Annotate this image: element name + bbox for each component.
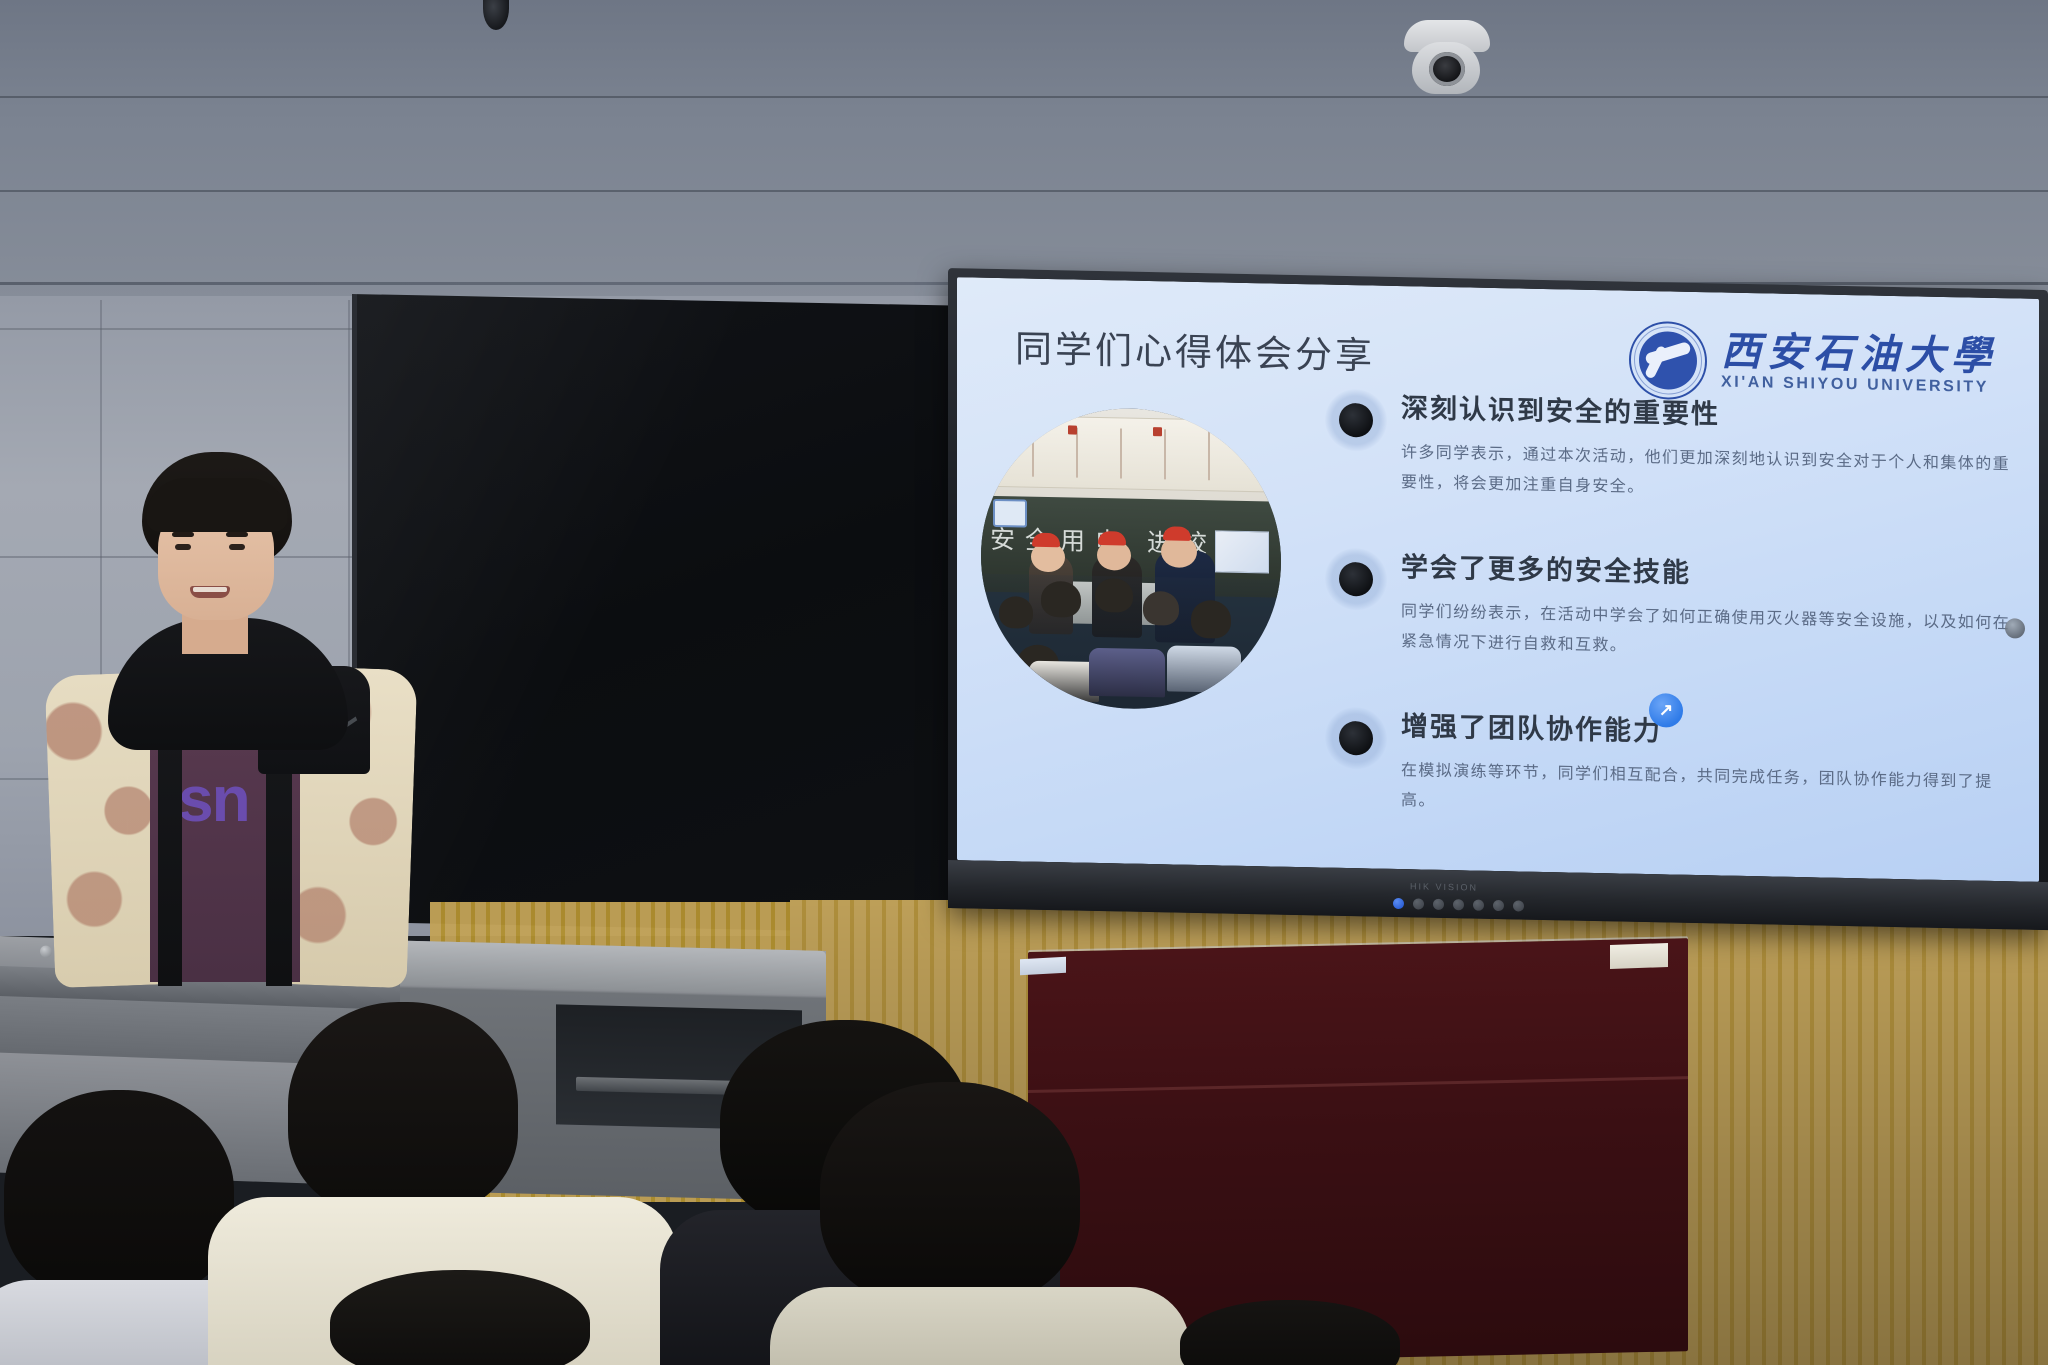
photo-banner <box>993 415 1269 493</box>
display-brand-label: HIK VISION <box>1410 881 1478 892</box>
wall-seam <box>0 190 2048 192</box>
audience-member <box>790 1082 1150 1365</box>
home-button[interactable] <box>1493 900 1504 911</box>
ir-receiver-icon <box>2005 618 2025 638</box>
university-seal-icon <box>1629 321 1707 401</box>
classroom-photo: 安全用电 进校园 <box>981 406 1281 712</box>
audience-member <box>1180 1300 1400 1365</box>
audience-member <box>330 1270 590 1365</box>
bullet-body: 许多同学表示，通过本次活动，他们更加深刻地认识到安全对于个人和集体的重要性，将会… <box>1401 438 2015 510</box>
display-button-row[interactable] <box>1393 898 1524 912</box>
accent-badge-icon: ↗ <box>1649 693 1683 728</box>
bullet-disc-icon <box>1325 389 1387 452</box>
eyebrow <box>172 532 194 537</box>
eye <box>229 544 245 550</box>
upper-wall <box>0 0 2048 300</box>
interactive-flat-panel[interactable]: 同学们心得体会分享 西安石油大學 XI'AN SHIYOU UNIVERSITY <box>948 268 2048 930</box>
power-button[interactable] <box>1393 898 1404 909</box>
presentation-slide: 同学们心得体会分享 西安石油大學 XI'AN SHIYOU UNIVERSITY <box>957 277 2039 882</box>
bullet-item: 深刻认识到安全的重要性 许多同学表示，通过本次活动，他们更加深刻地认识到安全对于… <box>1305 384 2015 509</box>
source-button[interactable] <box>1413 898 1424 909</box>
menu-button[interactable] <box>1433 899 1444 910</box>
bullet-disc-icon <box>1325 707 1387 770</box>
bullet-item: 学会了更多的安全技能 同学们纷纷表示，在活动中学会了如何正确使用灭火器等安全设施… <box>1305 543 2015 668</box>
hair-fringe <box>146 478 288 532</box>
slide-title: 同学们心得体会分享 <box>1015 318 1375 379</box>
bullet-body: 在模拟演练等环节，同学们相互配合，共同完成任务，团队协作能力得到了提高。 <box>1401 756 2015 828</box>
podium-papers <box>1610 943 1668 969</box>
bullet-disc-icon <box>1325 548 1387 611</box>
eyebrow <box>226 532 248 537</box>
vol-up-button[interactable] <box>1473 900 1484 911</box>
blackboard-panel <box>352 294 952 934</box>
logo-chinese-name: 西安石油大學 <box>1721 332 1997 378</box>
podium-papers <box>1020 957 1066 975</box>
tshirt-print: sn <box>178 762 249 836</box>
eye <box>175 544 191 550</box>
back-button[interactable] <box>1513 900 1524 911</box>
dome-security-camera-icon <box>1404 20 1490 98</box>
mouth <box>190 586 230 598</box>
bullet-list: 深刻认识到安全的重要性 许多同学表示，通过本次活动，他们更加深刻地认识到安全对于… <box>1305 384 2015 876</box>
wall-seam <box>0 96 2048 98</box>
presenter-person: sn <box>30 452 430 982</box>
bullet-heading: 学会了更多的安全技能 <box>1401 545 2015 596</box>
display-screen[interactable]: 同学们心得体会分享 西安石油大學 XI'AN SHIYOU UNIVERSITY <box>957 277 2039 882</box>
lecture-hall-scene: 同学们心得体会分享 西安石油大學 XI'AN SHIYOU UNIVERSITY <box>0 0 2048 1365</box>
vol-down-button[interactable] <box>1453 899 1464 910</box>
bullet-heading: 增强了团队协作能力 <box>1401 704 2015 755</box>
bullet-body: 同学们纷纷表示，在活动中学会了如何正确使用灭火器等安全设施，以及如何在紧急情况下… <box>1401 597 2015 669</box>
